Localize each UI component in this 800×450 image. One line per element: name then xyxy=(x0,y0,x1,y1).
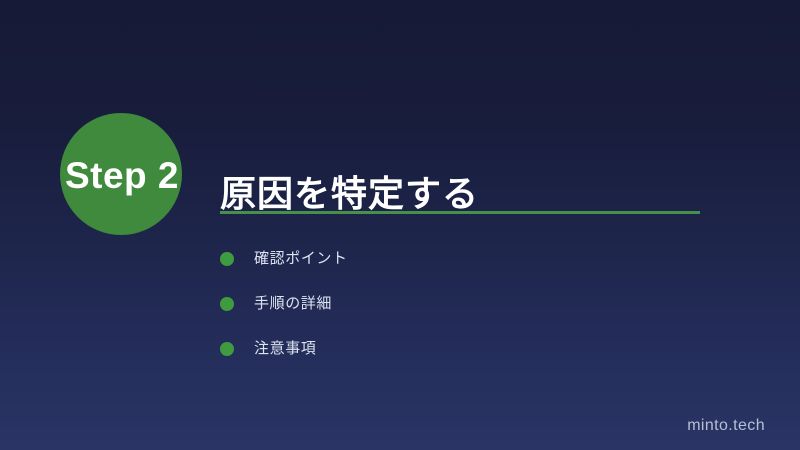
list-item-label: 手順の詳細 xyxy=(254,294,332,314)
slide-canvas: Step 2 原因を特定する 確認ポイント 手順の詳細 注意事項 minto.t… xyxy=(0,0,800,450)
list-item: 確認ポイント xyxy=(220,236,348,281)
bullet-dot-icon xyxy=(220,252,234,266)
title-divider xyxy=(220,211,700,214)
page-title: 原因を特定する xyxy=(220,172,479,216)
step-badge-label: Step 2 xyxy=(44,155,200,197)
bullet-list: 確認ポイント 手順の詳細 注意事項 xyxy=(220,236,348,371)
list-item: 手順の詳細 xyxy=(220,281,348,326)
bullet-dot-icon xyxy=(220,342,234,356)
footer-watermark: minto.tech xyxy=(687,416,765,436)
bullet-dot-icon xyxy=(220,297,234,311)
list-item-label: 確認ポイント xyxy=(254,249,348,269)
list-item-label: 注意事項 xyxy=(254,339,316,359)
list-item: 注意事項 xyxy=(220,326,348,371)
